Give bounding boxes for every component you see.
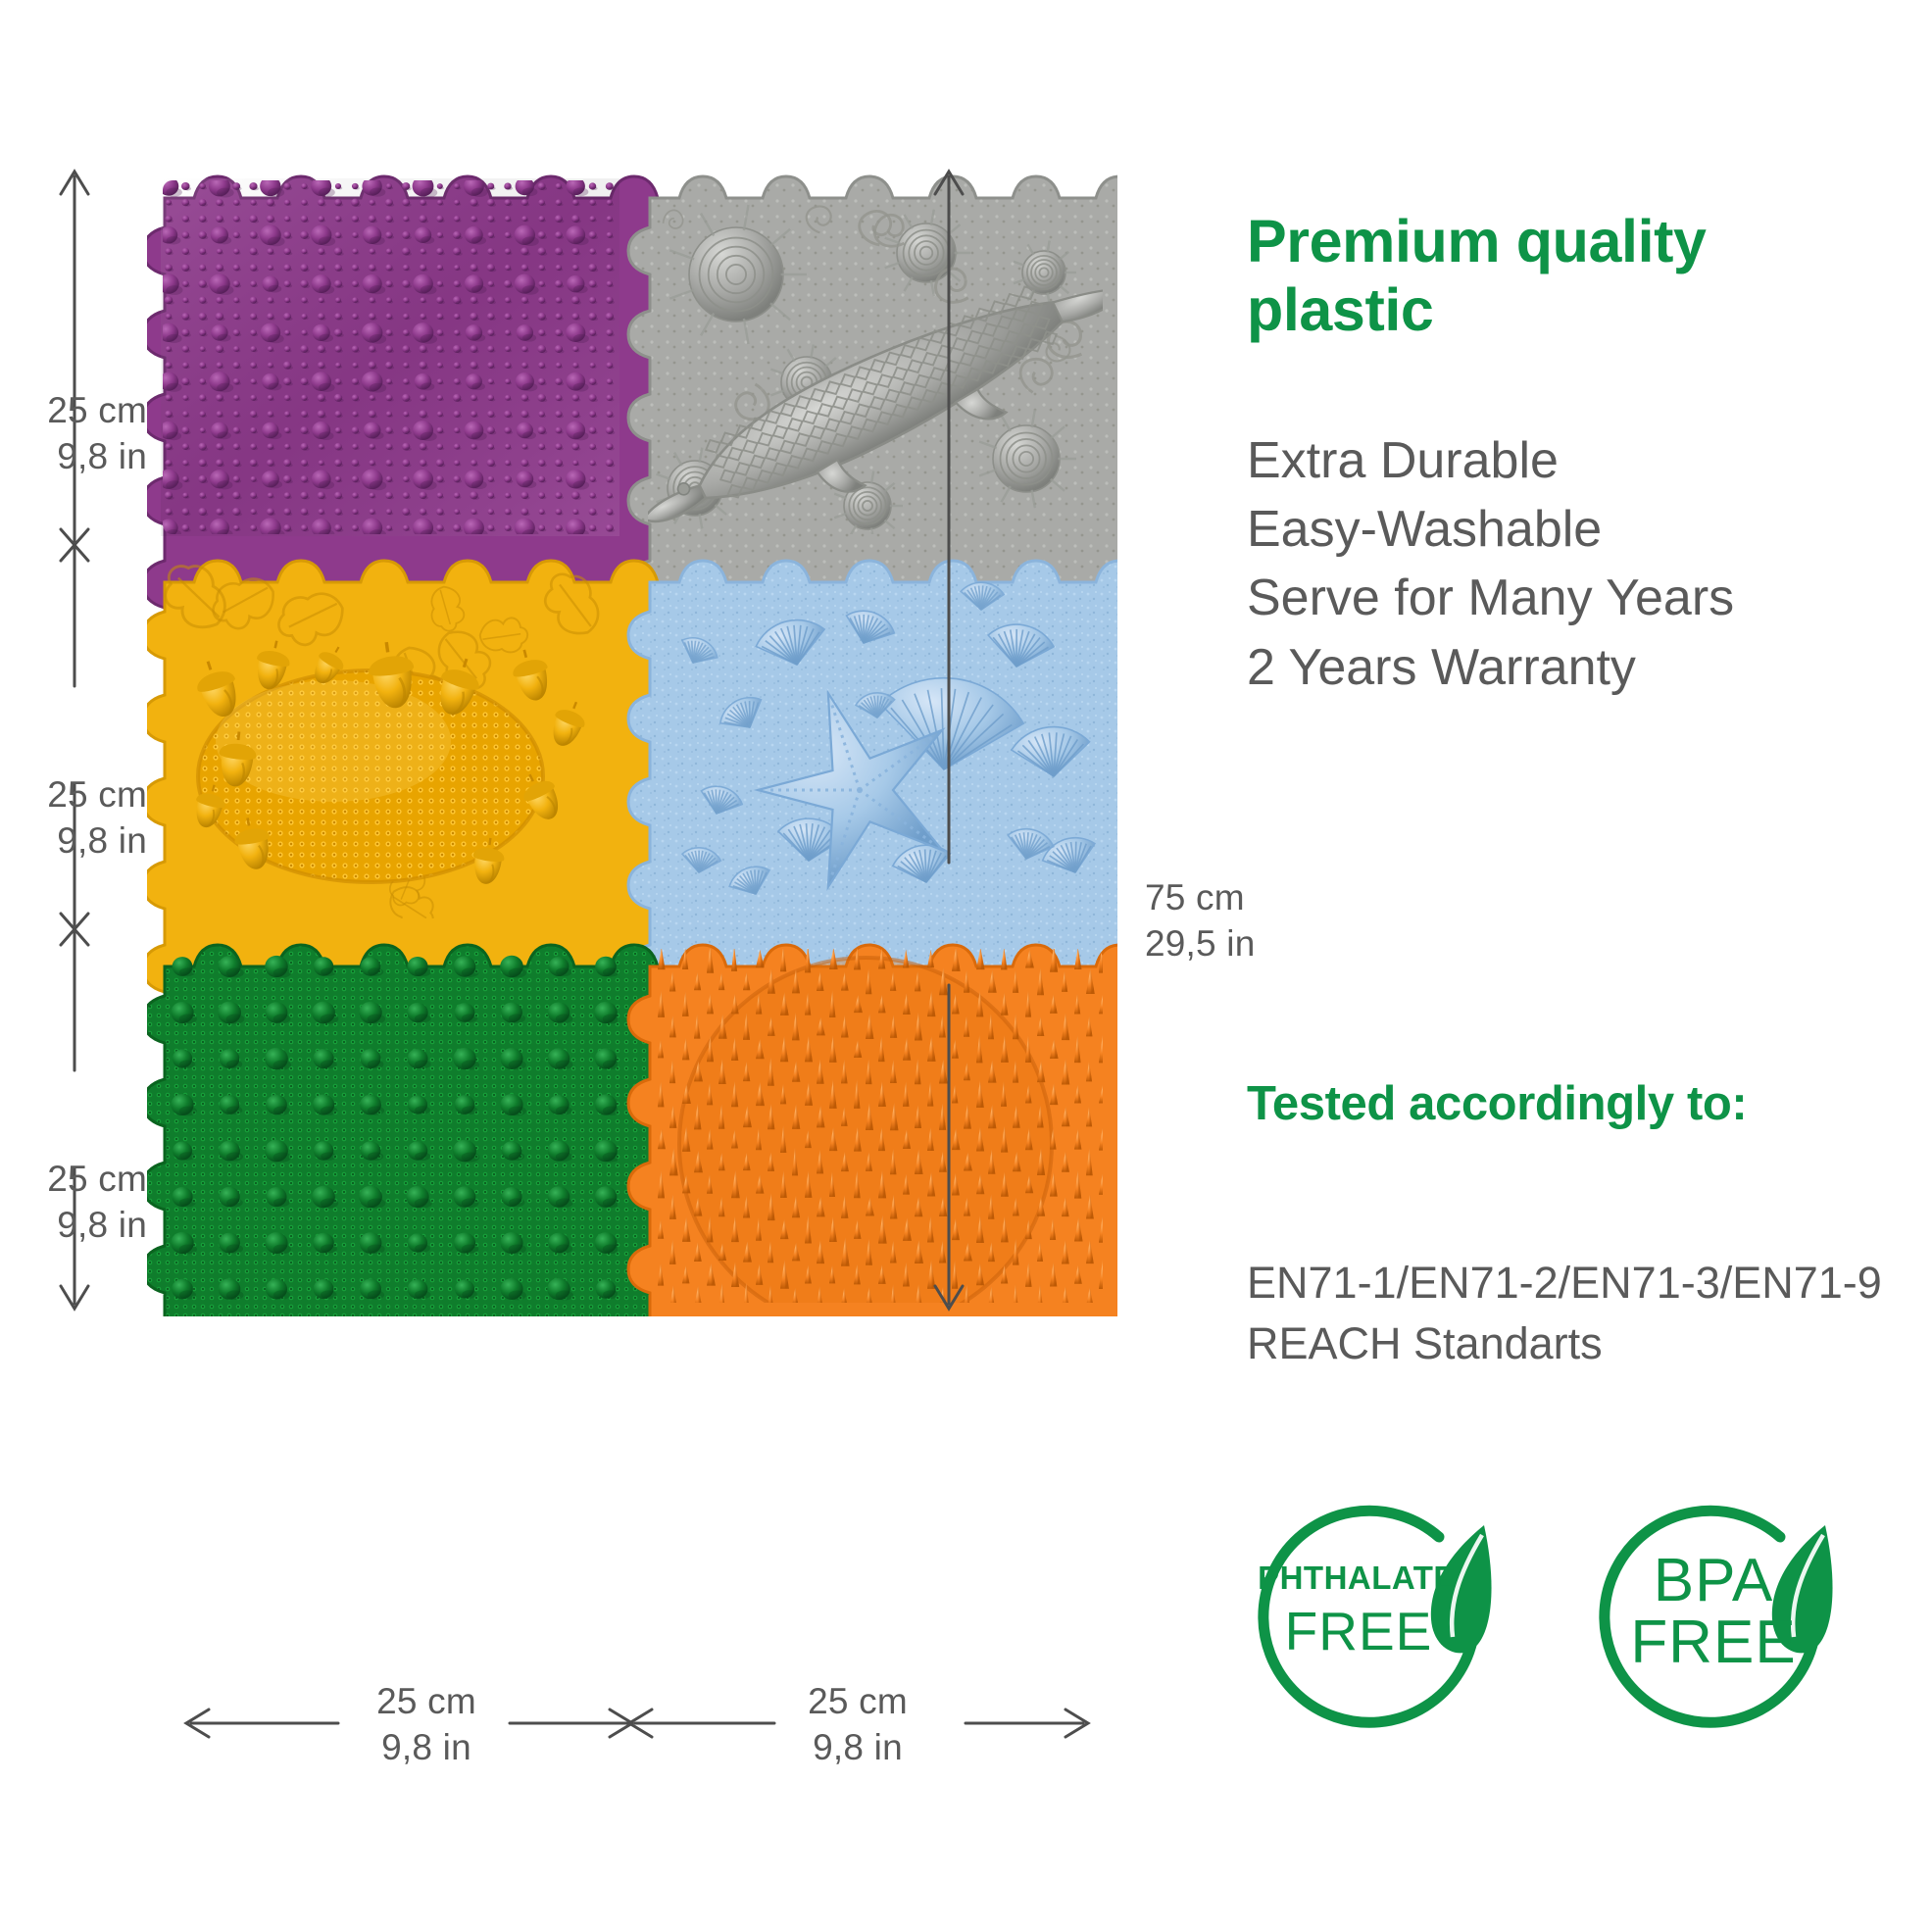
standard-item-2: REACH Standarts [1247,1313,1932,1374]
dim-left-3-cm: 25 cm [47,1159,147,1199]
standard-item-1: EN71-1/EN71-2/EN71-3/EN71-9 [1247,1253,1932,1313]
tile-green-grass [147,945,709,1316]
dim-bottom-1: 25 cm9,8 in [270,1678,583,1771]
dim-bottom-1-cm: 25 cm [376,1681,476,1721]
heading-tested-accordingly: Tested accordingly to: [1247,1076,1932,1131]
dim-right-total-cm: 75 cm [1145,877,1245,917]
heading-premium-quality: Premium quality plastic [1247,208,1932,344]
phthalate-free-badge: PHTHALATE FREE [1247,1498,1511,1762]
dim-left-1-in: 9,8 in [57,436,147,476]
dim-left-1-cm: 25 cm [47,390,147,430]
dim-right-total: 75 cm29,5 in [1145,874,1361,967]
feature-item-4: 2 Years Warranty [1247,633,1932,702]
feature-item-2: Easy-Washable [1247,495,1932,564]
badge-line2: FREE [1630,1609,1796,1676]
tile-orange-spikes [628,944,1117,1316]
sensory-mat-grid [147,165,1117,1316]
dim-left-3: 25 cm9,8 in [0,1156,147,1249]
dim-left-3-in: 9,8 in [57,1205,147,1245]
dim-left-2-in: 9,8 in [57,820,147,861]
dim-right-total-in: 29,5 in [1145,923,1256,964]
feature-item-3: Serve for Many Years [1247,564,1932,632]
dim-bottom-2-cm: 25 cm [808,1681,908,1721]
dim-left-2-cm: 25 cm [47,774,147,815]
badge-line2: FREE [1285,1601,1433,1661]
dim-bottom-2-in: 9,8 in [813,1727,903,1767]
feature-item-1: Extra Durable [1247,426,1932,495]
dim-bottom-1-in: 9,8 in [381,1727,471,1767]
feature-list: Extra Durable Easy-Washable Serve for Ma… [1247,426,1932,702]
standards-list: EN71-1/EN71-2/EN71-3/EN71-9 REACH Standa… [1247,1253,1932,1374]
dim-left-2: 25 cm9,8 in [0,771,147,865]
dim-left-1: 25 cm9,8 in [0,387,147,480]
dim-bottom-2: 25 cm9,8 in [701,1678,1015,1771]
badge-line1: BPA [1654,1547,1773,1614]
bpa-free-badge: BPA FREE [1588,1498,1853,1762]
badge-line1: PHTHALATE [1258,1560,1456,1596]
